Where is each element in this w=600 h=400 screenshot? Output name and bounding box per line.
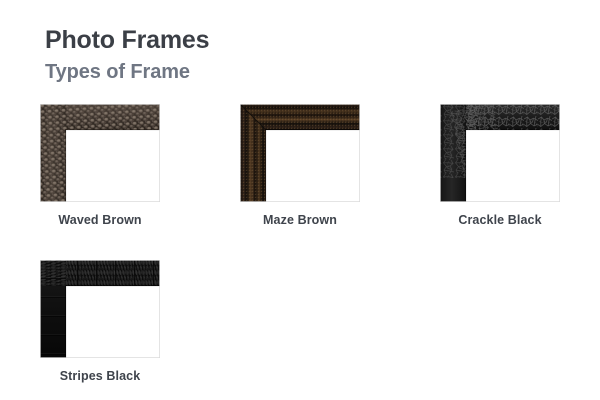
frame-label-waved-brown: Waved Brown [58, 213, 141, 227]
frame-grid: Waved Brown [0, 104, 600, 383]
frame-label-stripes-black: Stripes Black [60, 369, 141, 383]
frame-grid-row: Stripes Black [0, 260, 600, 383]
waved-brown-svg [40, 104, 160, 202]
frame-card-crackle-black[interactable]: Crackle Black [400, 104, 600, 227]
frame-image-crackle-black [440, 104, 560, 202]
poster-canvas: Photo Frames Types of Frame [0, 0, 600, 400]
frame-image-maze-brown [240, 104, 360, 202]
frame-image-stripes-black [40, 260, 160, 358]
stripes-black-svg [40, 260, 160, 358]
frame-card-maze-brown[interactable]: Maze Brown [200, 104, 400, 227]
crackle-black-svg [440, 104, 560, 202]
frame-label-crackle-black: Crackle Black [458, 213, 541, 227]
maze-brown-svg [240, 104, 360, 202]
heading-block: Photo Frames Types of Frame [45, 26, 209, 84]
frame-card-waved-brown[interactable]: Waved Brown [0, 104, 200, 227]
page-title: Photo Frames [45, 26, 209, 56]
frame-label-maze-brown: Maze Brown [263, 213, 337, 227]
frame-image-waved-brown [40, 104, 160, 202]
page-subtitle: Types of Frame [45, 60, 209, 84]
frame-grid-row: Waved Brown [0, 104, 600, 227]
frame-card-stripes-black[interactable]: Stripes Black [0, 260, 200, 383]
